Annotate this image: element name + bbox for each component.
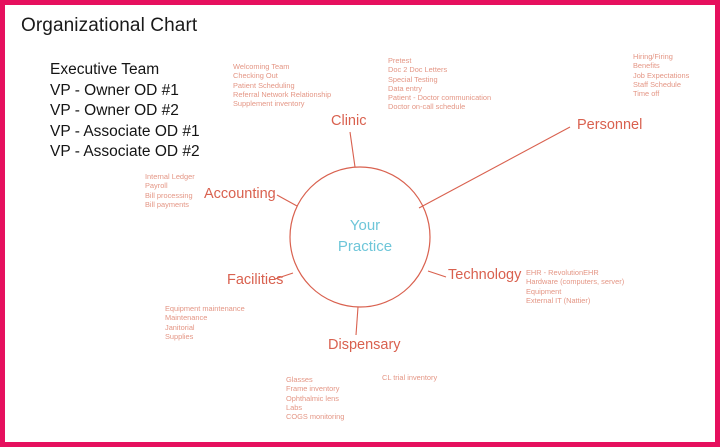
detail-item: Glasses [286,375,344,384]
detail-list-dispensary-primary: Glasses Frame inventory Ophthalmic lens … [286,375,344,421]
detail-list-clinic-primary: Welcoming Team Checking Out Patient Sche… [233,62,331,108]
detail-list-technology: EHR - RevolutionEHR Hardware (computers,… [526,268,624,305]
branch-label-clinic: Clinic [331,113,366,129]
branch-label-dispensary: Dispensary [328,337,401,353]
detail-item: Time off [633,89,689,98]
detail-item: Checking Out [233,71,331,80]
spoke-clinic [350,132,355,167]
branch-label-accounting: Accounting [204,186,276,202]
detail-item: Equipment [526,287,624,296]
detail-item: Ophthalmic lens [286,394,344,403]
detail-item: Patient - Doctor communication [388,93,491,102]
detail-item: Doc 2 Doc Letters [388,65,491,74]
detail-item: Hardware (computers, server) [526,277,624,286]
detail-list-accounting: Internal Ledger Payroll Bill processing … [145,172,195,209]
detail-list-dispensary-secondary: CL trial inventory [382,373,437,382]
hub-label-line2: Practice [305,236,425,257]
detail-item: Bill payments [145,200,195,209]
detail-item: Benefits [633,61,689,70]
chart-canvas: Organizational Chart Executive Team VP -… [5,5,715,442]
organizational-chart-page: Organizational Chart Executive Team VP -… [0,0,720,447]
detail-item: Bill processing [145,191,195,200]
detail-item: Labs [286,403,344,412]
detail-item: Doctor on-call schedule [388,102,491,111]
detail-item: Referral Network Relationship [233,90,331,99]
branch-label-technology: Technology [448,267,521,283]
detail-item: Staff Schedule [633,80,689,89]
detail-item: Equipment maintenance [165,304,245,313]
detail-item: Patient Scheduling [233,81,331,90]
detail-list-facilities: Equipment maintenance Maintenance Janito… [165,304,245,341]
detail-item: Janitorial [165,323,245,332]
detail-item: CL trial inventory [382,373,437,382]
detail-item: Special Testing [388,75,491,84]
detail-item: Hiring/Firing [633,52,689,61]
detail-item: Payroll [145,181,195,190]
spoke-accounting [277,195,297,206]
detail-item: COGS monitoring [286,412,344,421]
branch-label-facilities: Facilities [227,272,283,288]
detail-item: Pretest [388,56,491,65]
detail-list-clinic-secondary: Pretest Doc 2 Doc Letters Special Testin… [388,56,491,112]
detail-item: Maintenance [165,313,245,322]
detail-item: Internal Ledger [145,172,195,181]
detail-item: Supplies [165,332,245,341]
detail-item: External IT (Nattier) [526,296,624,305]
spoke-technology [428,271,446,277]
detail-item: Job Expectations [633,71,689,80]
detail-item: Frame inventory [286,384,344,393]
detail-item: Welcoming Team [233,62,331,71]
detail-item: EHR - RevolutionEHR [526,268,624,277]
spoke-personnel [419,127,570,208]
detail-item: Data entry [388,84,491,93]
spoke-dispensary [356,307,358,335]
detail-list-personnel: Hiring/Firing Benefits Job Expectations … [633,52,689,98]
branch-label-personnel: Personnel [577,117,642,133]
hub-label-line1: Your [305,215,425,236]
detail-item: Supplement inventory [233,99,331,108]
hub-label: Your Practice [305,215,425,257]
